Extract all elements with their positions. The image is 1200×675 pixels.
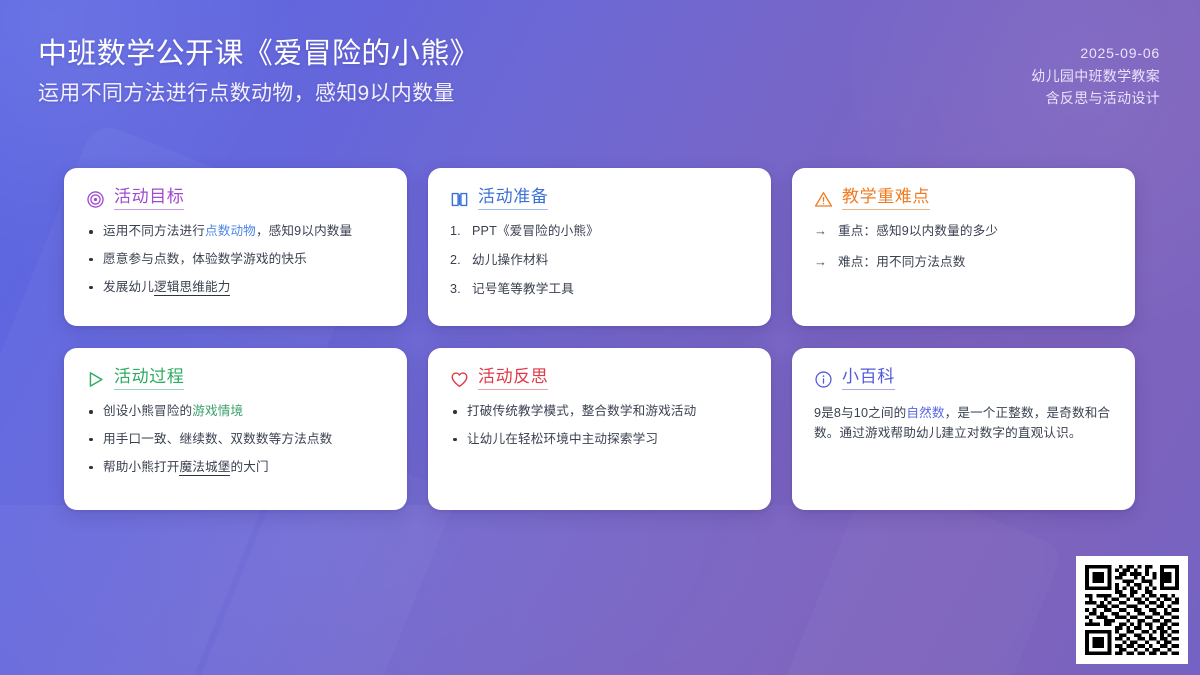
card-reflect: 活动反思 打破传统教学模式，整合数学和游戏活动让幼儿在轻松环境中主动探索学习 — [428, 348, 771, 510]
text-segment: PPT《爱冒险的小熊》 — [472, 224, 599, 238]
header-meta-block: 2025-09-06 幼儿园中班数学教案 含反思与活动设计 — [1031, 36, 1160, 110]
card-body: 创设小熊冒险的游戏情境用手口一致、继续数、双数数等方法点数帮助小熊打开魔法城堡的… — [86, 403, 385, 477]
meta-note: 含反思与活动设计 — [1031, 87, 1160, 110]
text-segment: 9是8与10之间的 — [814, 406, 906, 420]
highlighted-term: 逻辑思维能力 — [154, 280, 230, 296]
list-item: 用手口一致、继续数、双数数等方法点数 — [86, 431, 385, 449]
card-header: 小百科 — [814, 368, 1113, 390]
highlighted-term: 点数动物 — [205, 224, 256, 238]
text-segment: 运用不同方法进行 — [103, 224, 205, 238]
card-title: 小百科 — [842, 368, 895, 390]
qr-code-image — [1085, 565, 1179, 655]
card-goals: 活动目标 运用不同方法进行点数动物，感知9以内数量愿意参与点数，体验数学游戏的快… — [64, 168, 407, 326]
card-paragraph: 9是8与10之间的自然数，是一个正整数，是奇数和合数。通过游戏帮助幼儿建立对数字… — [814, 403, 1113, 444]
card-header: 活动准备 — [450, 188, 749, 210]
card-body: 重点：感知9以内数量的多少难点：用不同方法点数 — [814, 223, 1113, 272]
card-title: 活动过程 — [114, 368, 184, 390]
bullseye-icon — [86, 190, 105, 209]
meta-date: 2025-09-06 — [1031, 42, 1160, 65]
list-item: 打破传统教学模式，整合数学和游戏活动 — [450, 403, 749, 421]
slide-header: 中班数学公开课《爱冒险的小熊》 运用不同方法进行点数动物，感知9以内数量 202… — [0, 0, 1200, 150]
card-title: 活动反思 — [478, 368, 548, 390]
text-segment: 用手口一致、继续数、双数数等方法点数 — [103, 432, 332, 446]
text-segment: 愿意参与点数，体验数学游戏的快乐 — [103, 252, 307, 266]
list-item: 帮助小熊打开魔法城堡的大门 — [86, 459, 385, 477]
warning-triangle-icon — [814, 190, 833, 209]
list-item: 让幼儿在轻松环境中主动探索学习 — [450, 431, 749, 449]
text-segment: 幼儿操作材料 — [472, 253, 548, 267]
list-item: 运用不同方法进行点数动物，感知9以内数量 — [86, 223, 385, 241]
highlighted-term: 游戏情境 — [192, 404, 243, 418]
card-header: 活动过程 — [86, 368, 385, 390]
text-segment: ，感知9以内数量 — [256, 224, 352, 238]
text-segment: 难点：用不同方法点数 — [838, 255, 965, 269]
card-header: 活动目标 — [86, 188, 385, 210]
text-segment: 的大门 — [230, 460, 268, 474]
card-list: 运用不同方法进行点数动物，感知9以内数量愿意参与点数，体验数学游戏的快乐发展幼儿… — [86, 223, 385, 297]
highlighted-term: 自然数 — [906, 406, 944, 420]
card-list: 创设小熊冒险的游戏情境用手口一致、继续数、双数数等方法点数帮助小熊打开魔法城堡的… — [86, 403, 385, 477]
list-item: 记号笔等教学工具 — [450, 281, 749, 299]
list-item: 重点：感知9以内数量的多少 — [814, 223, 1113, 241]
text-segment: 发展幼儿 — [103, 280, 154, 294]
text-segment: 记号笔等教学工具 — [472, 282, 574, 296]
card-body: 运用不同方法进行点数动物，感知9以内数量愿意参与点数，体验数学游戏的快乐发展幼儿… — [86, 223, 385, 297]
meta-category: 幼儿园中班数学教案 — [1031, 65, 1160, 88]
page-title: 中班数学公开课《爱冒险的小熊》 — [38, 36, 479, 73]
card-list: PPT《爱冒险的小熊》幼儿操作材料记号笔等教学工具 — [450, 223, 749, 299]
background-glow-bottom — [0, 505, 1200, 675]
card-body: PPT《爱冒险的小熊》幼儿操作材料记号笔等教学工具 — [450, 223, 749, 299]
card-wiki: 小百科 9是8与10之间的自然数，是一个正整数，是奇数和合数。通过游戏帮助幼儿建… — [792, 348, 1135, 510]
card-header: 活动反思 — [450, 368, 749, 390]
info-circle-icon — [814, 370, 833, 389]
card-title: 教学重难点 — [842, 188, 930, 210]
content-card-grid: 活动目标 运用不同方法进行点数动物，感知9以内数量愿意参与点数，体验数学游戏的快… — [64, 168, 1136, 510]
card-header: 教学重难点 — [814, 188, 1113, 210]
list-item: 难点：用不同方法点数 — [814, 254, 1113, 272]
header-title-block: 中班数学公开课《爱冒险的小熊》 运用不同方法进行点数动物，感知9以内数量 — [38, 36, 479, 107]
book-icon — [450, 190, 469, 209]
card-body: 9是8与10之间的自然数，是一个正整数，是奇数和合数。通过游戏帮助幼儿建立对数字… — [814, 403, 1113, 444]
play-triangle-icon — [86, 370, 105, 389]
card-body: 打破传统教学模式，整合数学和游戏活动让幼儿在轻松环境中主动探索学习 — [450, 403, 749, 449]
text-segment: 重点：感知9以内数量的多少 — [838, 224, 998, 238]
highlighted-term: 魔法城堡 — [179, 460, 230, 476]
qr-code[interactable] — [1076, 556, 1188, 664]
text-segment: 打破传统教学模式，整合数学和游戏活动 — [467, 404, 696, 418]
card-process: 活动过程 创设小熊冒险的游戏情境用手口一致、继续数、双数数等方法点数帮助小熊打开… — [64, 348, 407, 510]
card-focus: 教学重难点 重点：感知9以内数量的多少难点：用不同方法点数 — [792, 168, 1135, 326]
list-item: PPT《爱冒险的小熊》 — [450, 223, 749, 241]
heart-icon — [450, 370, 469, 389]
text-segment: 创设小熊冒险的 — [103, 404, 192, 418]
card-title: 活动目标 — [114, 188, 184, 210]
card-list: 重点：感知9以内数量的多少难点：用不同方法点数 — [814, 223, 1113, 272]
text-segment: 让幼儿在轻松环境中主动探索学习 — [467, 432, 658, 446]
list-item: 愿意参与点数，体验数学游戏的快乐 — [86, 251, 385, 269]
card-title: 活动准备 — [478, 188, 548, 210]
list-item: 创设小熊冒险的游戏情境 — [86, 403, 385, 421]
list-item: 发展幼儿逻辑思维能力 — [86, 279, 385, 297]
list-item: 幼儿操作材料 — [450, 252, 749, 270]
page-subtitle: 运用不同方法进行点数动物，感知9以内数量 — [38, 80, 479, 107]
slide-root: 中班数学公开课《爱冒险的小熊》 运用不同方法进行点数动物，感知9以内数量 202… — [0, 0, 1200, 675]
text-segment: 帮助小熊打开 — [103, 460, 179, 474]
card-prep: 活动准备 PPT《爱冒险的小熊》幼儿操作材料记号笔等教学工具 — [428, 168, 771, 326]
card-list: 打破传统教学模式，整合数学和游戏活动让幼儿在轻松环境中主动探索学习 — [450, 403, 749, 449]
